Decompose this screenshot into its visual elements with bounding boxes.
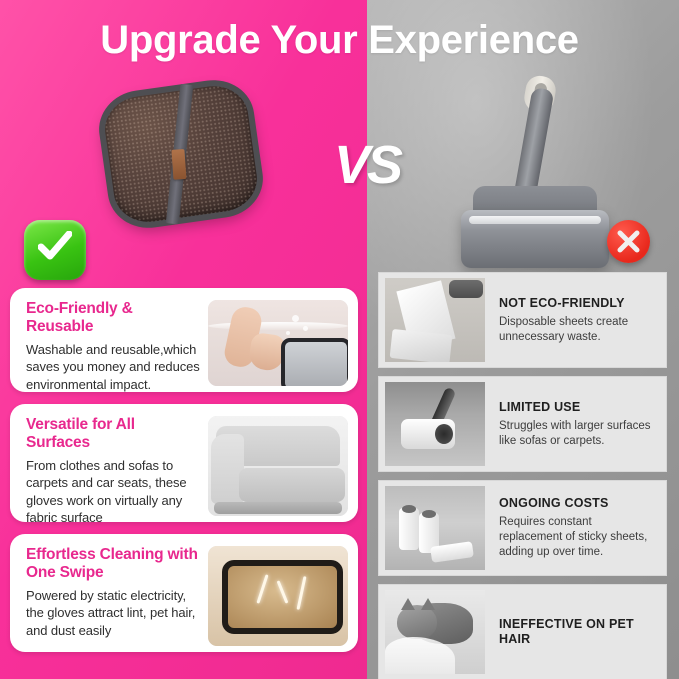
check-glyph — [38, 231, 72, 261]
benefit-card-effortless-cleaning[interactable]: Effortless Cleaning with One Swipe Power… — [10, 534, 358, 652]
benefit-title: Eco-Friendly & Reusable — [26, 300, 200, 336]
drawback-title: LIMITED USE — [499, 400, 652, 415]
glove-pad-tab — [171, 149, 186, 180]
drawback-body: Struggles with larger surfaces like sofa… — [499, 419, 652, 449]
sofa-seat — [239, 468, 345, 502]
crumpled-sticky-sheets-image — [385, 278, 485, 362]
drawback-text: INEFFECTIVE ON PET HAIR — [485, 617, 660, 647]
drawback-card-not-eco-friendly[interactable]: NOT ECO-FRIENDLY Disposable sheets creat… — [378, 272, 667, 368]
benefit-card-eco-friendly[interactable]: Eco-Friendly & Reusable Washable and reu… — [10, 288, 358, 392]
roller-shape — [401, 419, 455, 449]
lint-roller-image — [455, 78, 625, 258]
page-title: Upgrade Your Experience — [0, 12, 679, 68]
roller-drum — [461, 210, 609, 268]
sofa-base — [214, 502, 343, 514]
refill-rolls-image — [385, 486, 485, 570]
cat-ear — [421, 598, 435, 610]
sofa-art — [208, 416, 348, 516]
drawbacks-list: NOT ECO-FRIENDLY Disposable sheets creat… — [378, 272, 667, 679]
rolls-art — [385, 486, 485, 570]
static-electricity-pad-image — [208, 546, 348, 646]
comparison-infographic: Upgrade Your Experience VS Eco-Friendly … — [0, 0, 679, 679]
drawback-text: ONGOING COSTS Requires constant replacem… — [485, 496, 660, 560]
drawback-title: NOT ECO-FRIENDLY — [499, 296, 652, 311]
roller-on-carpet-image — [385, 382, 485, 466]
benefit-text: Eco-Friendly & Reusable Washable and reu… — [26, 300, 208, 392]
drawback-body: Disposable sheets create unnecessary was… — [499, 315, 652, 345]
cat-on-fur-image — [385, 590, 485, 674]
water-scene-art — [208, 300, 348, 386]
drawback-card-ongoing-costs[interactable]: ONGOING COSTS Requires constant replacem… — [378, 480, 667, 576]
check-icon — [24, 220, 86, 280]
bubble — [303, 326, 308, 331]
drawback-title: ONGOING COSTS — [499, 496, 652, 511]
hand-washing-pad-in-water-image — [208, 300, 348, 386]
pad-shape — [281, 338, 348, 386]
cat-art — [385, 590, 485, 674]
sheets-art — [385, 278, 485, 362]
benefit-title: Versatile for All Surfaces — [26, 416, 200, 452]
bubble — [286, 331, 290, 335]
pet-hair-remover-glove-image — [98, 78, 265, 230]
grey-fabric-sofa-image — [208, 416, 348, 516]
cat-ear — [401, 598, 415, 610]
drawback-body: Requires constant replacement of sticky … — [499, 515, 652, 560]
cross-glyph — [616, 229, 641, 254]
drawback-card-ineffective-pet-hair[interactable]: INEFFECTIVE ON PET HAIR — [378, 584, 667, 679]
drawback-text: NOT ECO-FRIENDLY Disposable sheets creat… — [485, 296, 660, 345]
benefit-body: Powered by static electricity, the glove… — [26, 587, 200, 639]
sheet-shape — [390, 329, 453, 362]
static-art — [208, 546, 348, 646]
vs-label: VS — [314, 132, 420, 198]
roller-handle — [514, 87, 555, 199]
benefit-body: From clothes and sofas to carpets and ca… — [26, 457, 200, 522]
refill-roll — [399, 508, 419, 550]
benefits-list: Eco-Friendly & Reusable Washable and reu… — [10, 288, 358, 664]
benefit-text: Effortless Cleaning with One Swipe Power… — [26, 546, 208, 639]
carpet-art — [385, 382, 485, 466]
benefit-card-versatile[interactable]: Versatile for All Surfaces From clothes … — [10, 404, 358, 522]
benefit-body: Washable and reusable,which saves you mo… — [26, 341, 200, 392]
drawback-title: INEFFECTIVE ON PET HAIR — [499, 617, 652, 647]
cross-icon — [607, 220, 650, 263]
dark-shape — [449, 280, 483, 298]
drawback-card-limited-use[interactable]: LIMITED USE Struggles with larger surfac… — [378, 376, 667, 472]
drawback-text: LIMITED USE Struggles with larger surfac… — [485, 400, 660, 449]
benefit-text: Versatile for All Surfaces From clothes … — [26, 416, 208, 522]
benefit-title: Effortless Cleaning with One Swipe — [26, 546, 200, 582]
